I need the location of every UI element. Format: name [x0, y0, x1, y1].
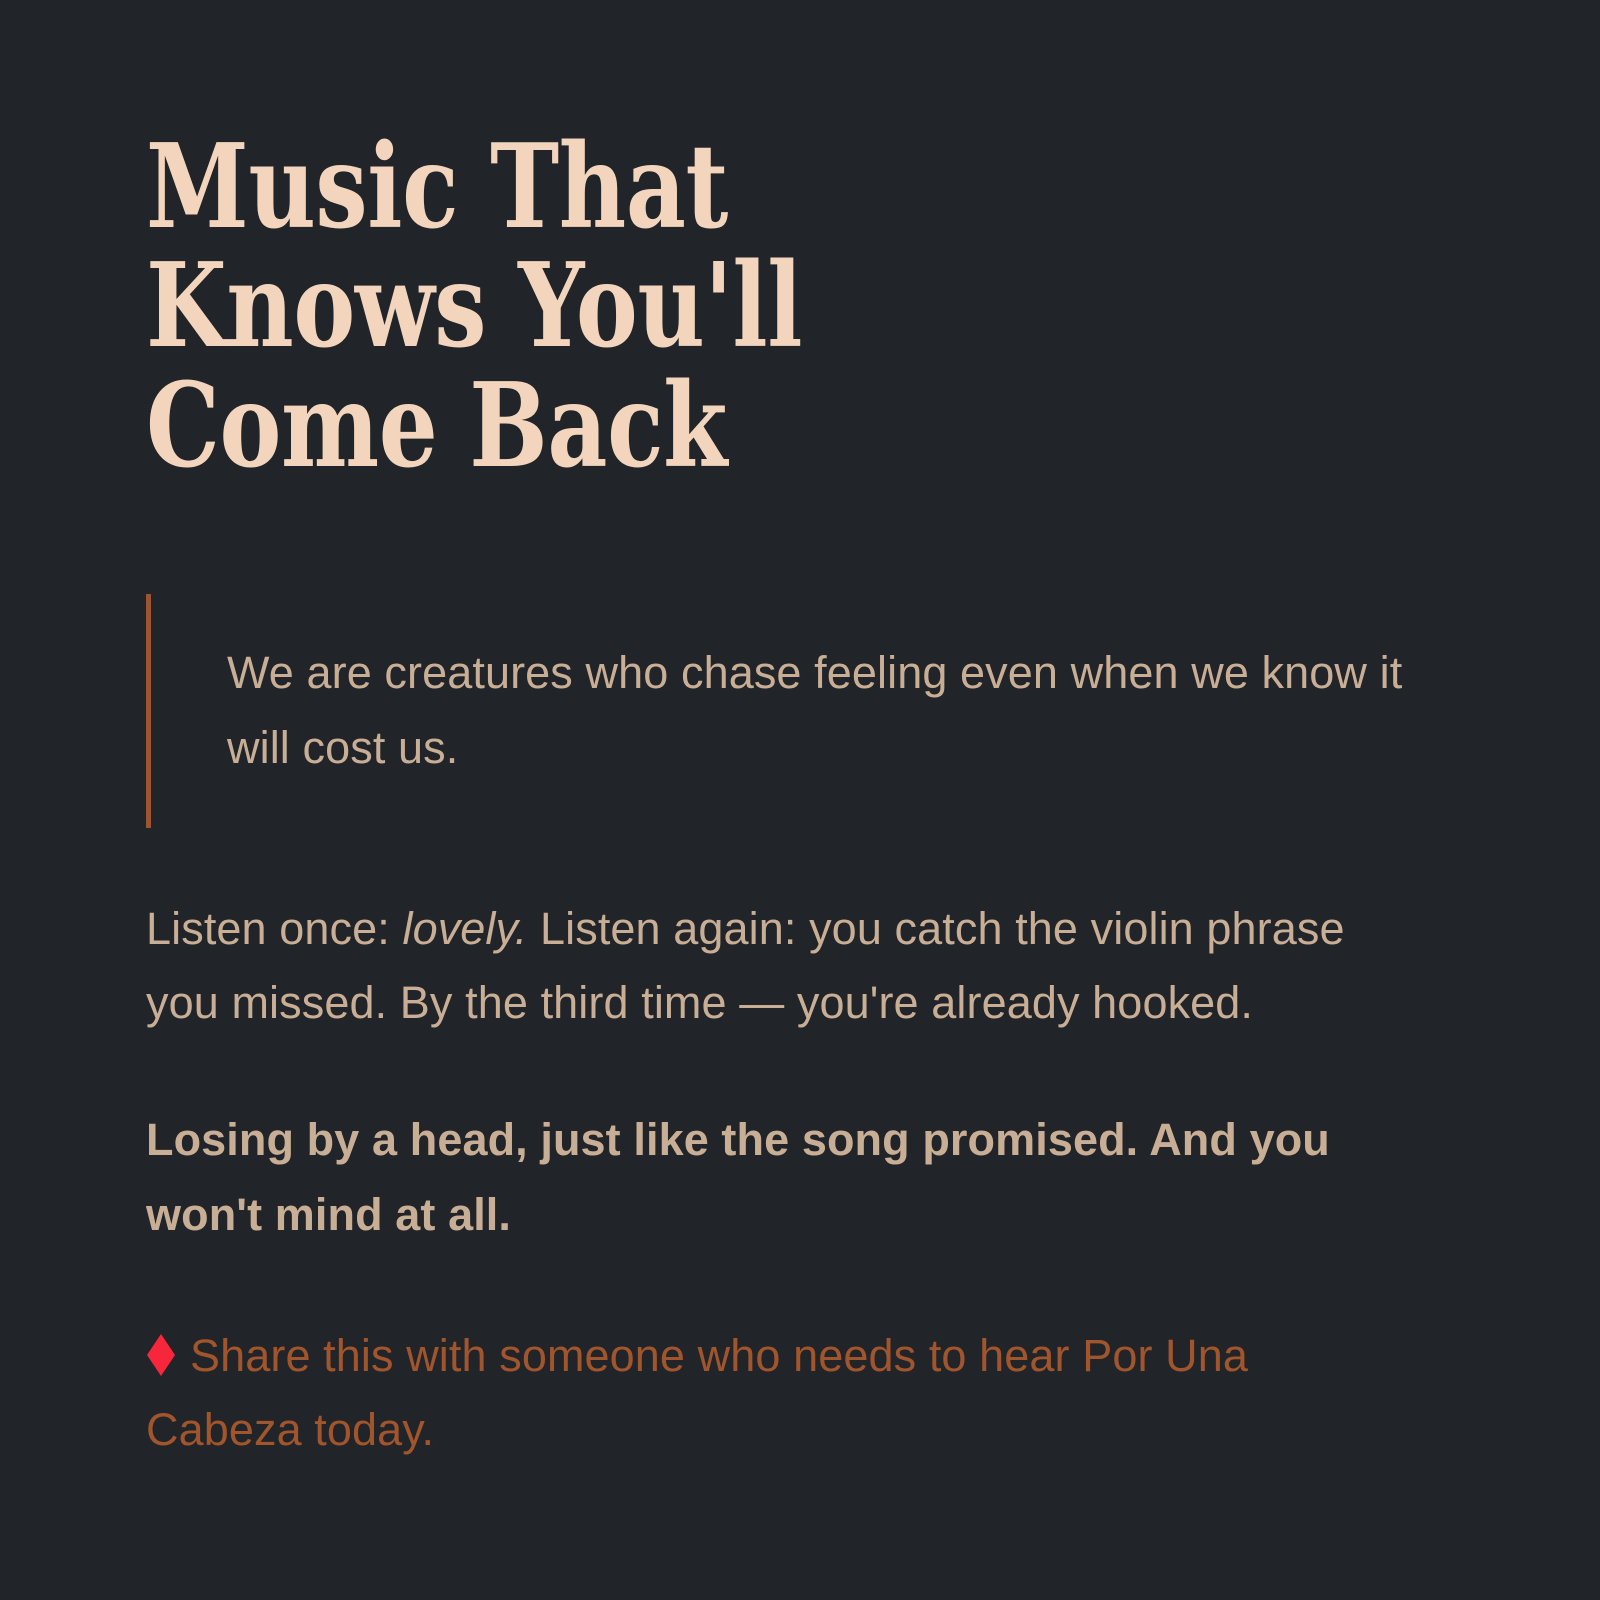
page-title: Music That Knows You'll Come Back: [146, 0, 1090, 486]
pull-quote-block: We are creatures who chase feeling even …: [146, 594, 1454, 827]
red-diamond-icon: [146, 1333, 176, 1377]
pull-quote-text: We are creatures who chase feeling even …: [227, 636, 1454, 785]
body-paragraph-lead: Listen once:: [146, 903, 402, 954]
body-paragraph-emphasis: lovely.: [402, 903, 527, 954]
share-callout-text: Share this with someone who needs to hea…: [146, 1330, 1248, 1456]
body-paragraph-bold: Losing by a head, just like the song pro…: [146, 1103, 1436, 1252]
share-callout[interactable]: Share this with someone who needs to hea…: [146, 1319, 1416, 1468]
social-card: Music That Knows You'll Come Back We are…: [0, 0, 1600, 1600]
body-paragraph: Listen once: lovely. Listen again: you c…: [146, 892, 1376, 1041]
